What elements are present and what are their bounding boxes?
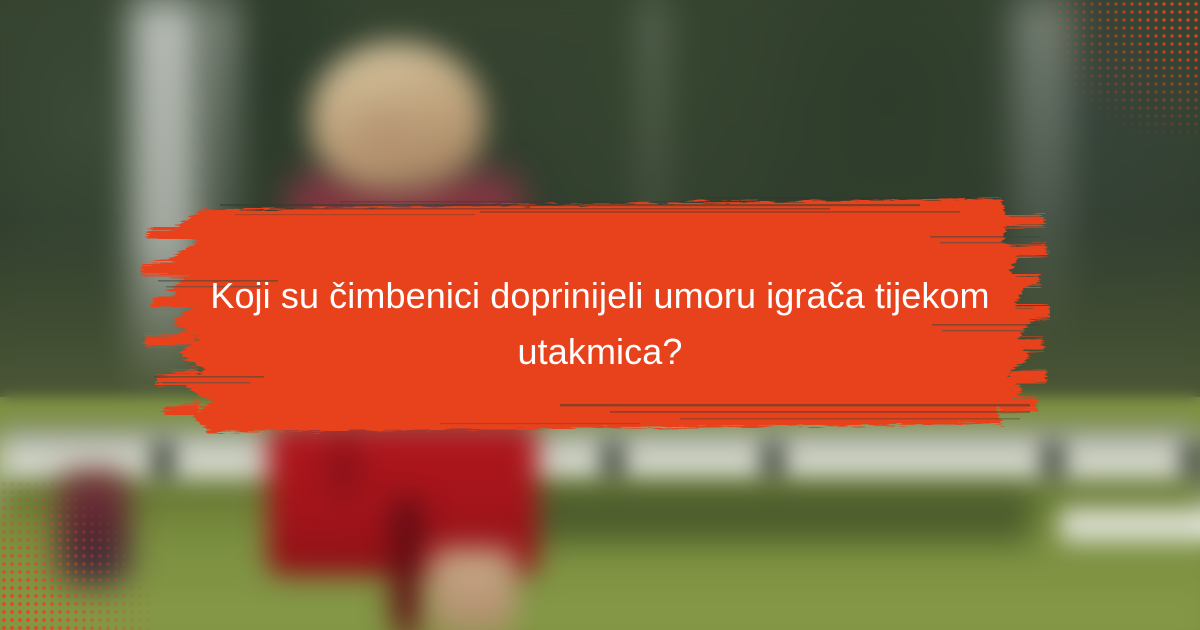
player-head [310, 42, 485, 192]
player-leg-gap [392, 500, 422, 630]
share-card: Koji su čimbenici doprinijeli umoru igra… [0, 0, 1200, 630]
player-legs [430, 548, 516, 630]
background-secondary-figure [58, 470, 130, 585]
background-white-bar [1060, 508, 1200, 542]
headline-text: Koji su čimbenici doprinijeli umoru igra… [190, 268, 1010, 380]
